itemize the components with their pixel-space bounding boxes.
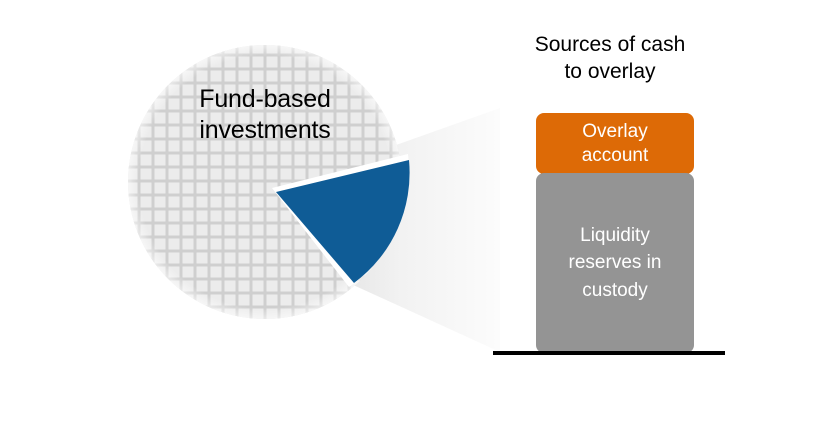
bar-liquidity-reserves-label: Liquidity reserves in custody bbox=[569, 222, 662, 305]
baseline-rule bbox=[493, 351, 725, 355]
sources-panel: Sources of cash to overlay Overlay accou… bbox=[494, 0, 726, 439]
bar-overlay-account-label: Overlay account bbox=[582, 120, 649, 166]
panel-title: Sources of cash to overlay bbox=[488, 32, 732, 85]
circle-label: Fund-based investments bbox=[150, 84, 380, 145]
bar-liquidity-reserves[interactable]: Liquidity reserves in custody bbox=[536, 173, 694, 353]
bar-overlay-account[interactable]: Overlay account bbox=[536, 113, 694, 174]
diagram-canvas: Fund-based investments Sources of cash t… bbox=[0, 0, 836, 439]
